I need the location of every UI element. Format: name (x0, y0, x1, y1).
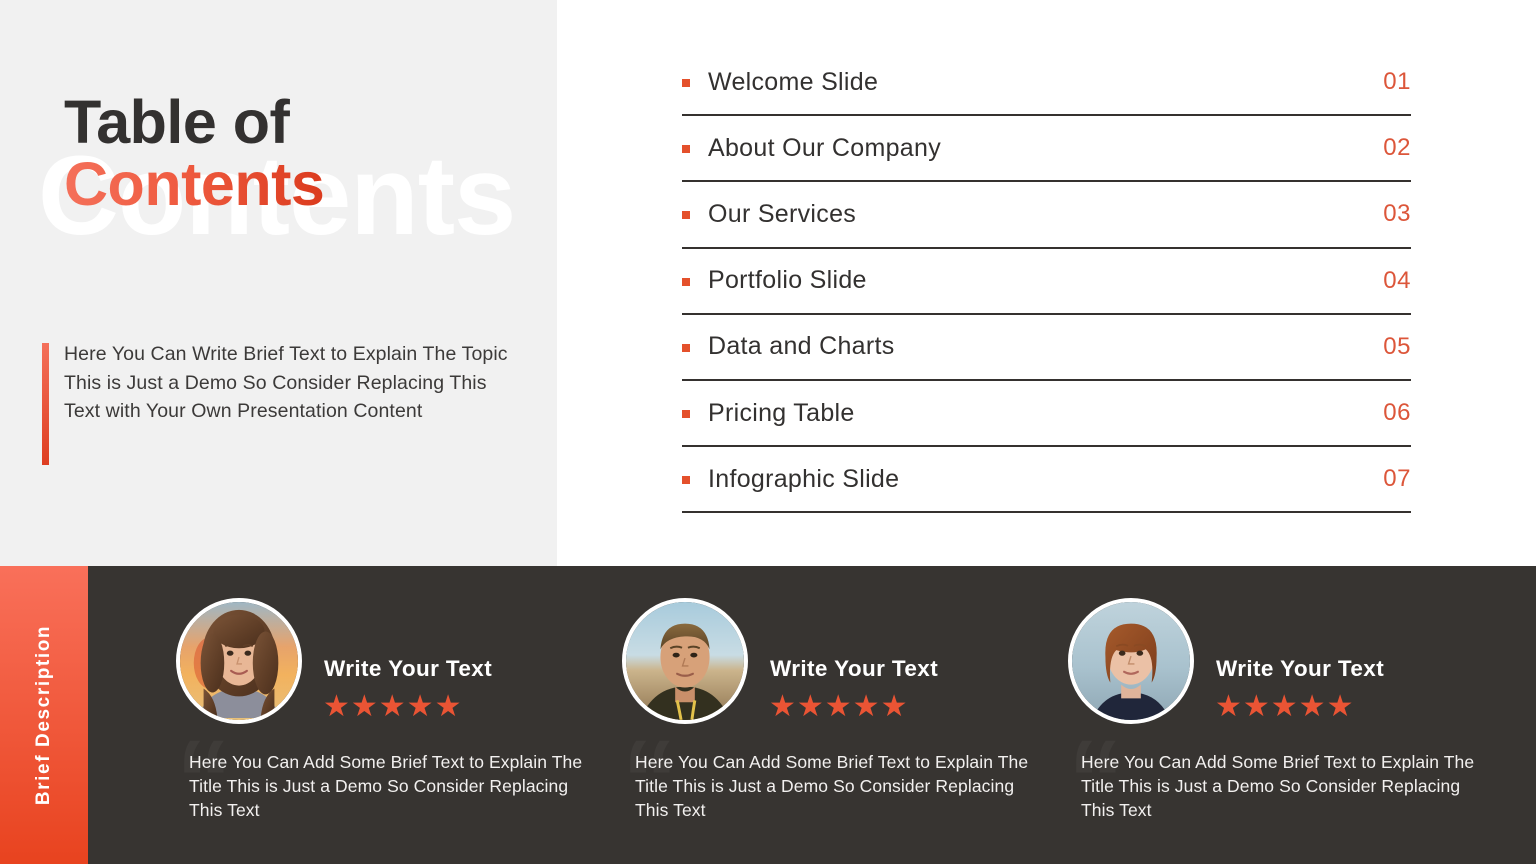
square-bullet-icon (682, 476, 690, 484)
toc-item-label: About Our Company (708, 134, 1383, 163)
left-panel: Contents Table of Contents Here You Can … (0, 0, 557, 566)
avatar (622, 598, 748, 724)
toc-item-number: 05 (1383, 333, 1411, 361)
toc-item-infographic-slide[interactable]: Infographic Slide 07 (682, 447, 1411, 513)
toc-item-pricing-table[interactable]: Pricing Table 06 (682, 381, 1411, 447)
toc-item-number: 07 (1383, 465, 1411, 493)
toc-item-label: Portfolio Slide (708, 266, 1383, 295)
testimonial-card: “ (176, 566, 596, 864)
page-title: Contents Table of Contents (64, 92, 534, 262)
toc-item-number: 02 (1383, 134, 1411, 162)
title-line-primary: Table of (64, 92, 289, 153)
toc-item-number: 04 (1383, 267, 1411, 295)
testimonial-card: “ (622, 566, 1042, 864)
testimonial-name: Write Your Text (770, 656, 938, 682)
toc-item-portfolio-slide[interactable]: Portfolio Slide 04 (682, 249, 1411, 315)
toc-item-welcome-slide[interactable]: Welcome Slide 01 (682, 50, 1411, 116)
toc-item-label: Our Services (708, 200, 1383, 229)
toc-item-data-and-charts[interactable]: Data and Charts 05 (682, 315, 1411, 381)
square-bullet-icon (682, 344, 690, 352)
toc-item-number: 03 (1383, 200, 1411, 228)
toc-item-about-our-company[interactable]: About Our Company 02 (682, 116, 1411, 182)
star-rating-icon: ★★★★★ (323, 692, 462, 722)
square-bullet-icon (682, 145, 690, 153)
square-bullet-icon (682, 79, 690, 87)
toc-item-label: Infographic Slide (708, 465, 1383, 494)
testimonial-body: Here You Can Add Some Brief Text to Expl… (635, 750, 1040, 822)
testimonial-name: Write Your Text (1216, 656, 1384, 682)
brief-description-band: Brief Description “ (0, 566, 1536, 864)
title-line-accent: Contents (64, 154, 324, 215)
toc-item-number: 06 (1383, 399, 1411, 427)
avatar (1068, 598, 1194, 724)
star-rating-icon: ★★★★★ (1215, 692, 1354, 722)
star-rating-icon: ★★★★★ (769, 692, 908, 722)
testimonial-body: Here You Can Add Some Brief Text to Expl… (189, 750, 594, 822)
square-bullet-icon (682, 211, 690, 219)
square-bullet-icon (682, 278, 690, 286)
description-text: Here You Can Write Brief Text to Explain… (64, 340, 512, 426)
toc-item-label: Data and Charts (708, 332, 1383, 361)
testimonial-name: Write Your Text (324, 656, 492, 682)
toc-item-number: 01 (1383, 68, 1411, 96)
table-of-contents-list: Welcome Slide 01 About Our Company 02 Ou… (682, 50, 1411, 513)
testimonial-body: Here You Can Add Some Brief Text to Expl… (1081, 750, 1481, 822)
brief-description-label: Brief Description (33, 625, 55, 805)
slide-canvas: Contents Table of Contents Here You Can … (0, 0, 1536, 864)
avatar (176, 598, 302, 724)
description-accent-bar (42, 343, 49, 465)
description-block: Here You Can Write Brief Text to Explain… (42, 340, 512, 426)
brief-description-strip: Brief Description (0, 566, 88, 864)
toc-item-label: Pricing Table (708, 399, 1383, 428)
toc-item-label: Welcome Slide (708, 68, 1383, 97)
square-bullet-icon (682, 410, 690, 418)
testimonial-card: “ (1068, 566, 1498, 864)
toc-item-our-services[interactable]: Our Services 03 (682, 182, 1411, 248)
